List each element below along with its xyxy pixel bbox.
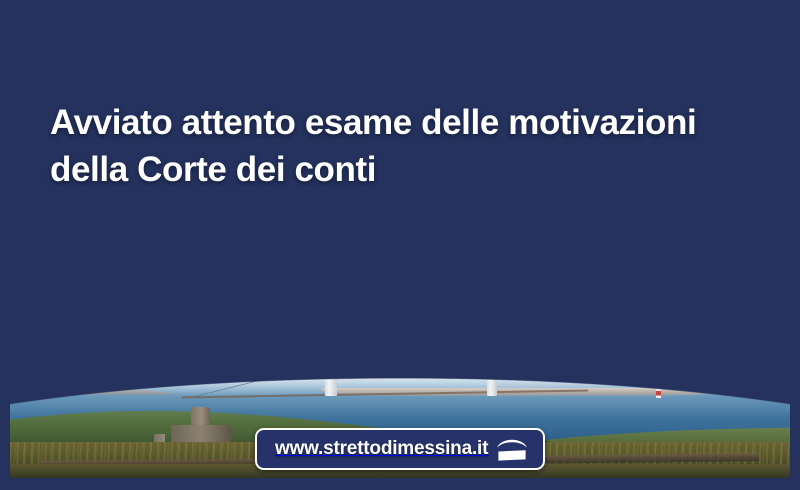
pylon-crossbeam-lower xyxy=(323,367,340,370)
website-url-text: www.strettodimessina.it xyxy=(275,438,488,460)
promo-card: Avviato attento esame delle motivazioni … xyxy=(0,0,800,490)
pylon-crossbeam-upper xyxy=(485,353,499,355)
page-title: Avviato attento esame delle motivazioni … xyxy=(50,100,760,194)
tower-top xyxy=(191,407,210,427)
radio-antenna xyxy=(656,373,661,398)
bridge-pylon-far xyxy=(487,343,496,396)
bottom-strip xyxy=(0,478,800,490)
pylon-crossbeam-lower xyxy=(485,370,499,372)
website-url-badge[interactable]: www.strettodimessina.it xyxy=(255,428,545,470)
pylon-crossbeam-upper xyxy=(323,346,340,349)
bridge-pylon-near xyxy=(325,332,337,396)
bridge-logo-icon xyxy=(495,435,529,463)
